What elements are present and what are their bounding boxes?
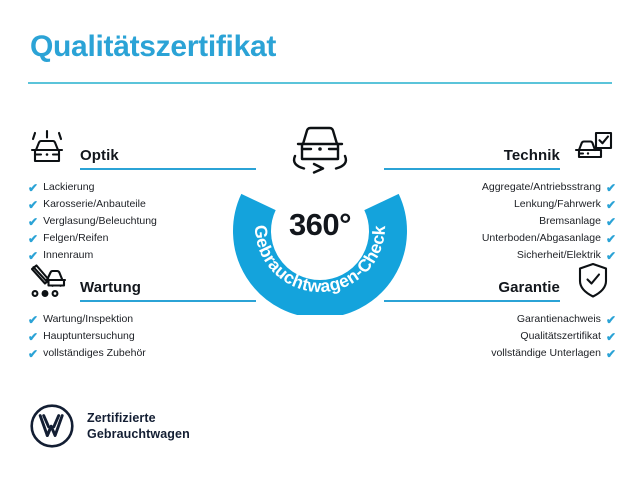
list-item-label: Aggregate/Antriebsstrang [482,179,601,196]
check-icon: ✔ [606,331,616,343]
check-icon: ✔ [606,348,616,360]
check-icon: ✔ [28,314,38,326]
list-item-label: Bremsanlage [539,213,601,230]
list-item-label: Felgen/Reifen [43,230,108,247]
list-item-label: Garantienachweis [517,311,601,328]
check-icon: ✔ [28,199,38,211]
list-item: ✔ vollständige Unterlagen [384,345,616,362]
check-icon: ✔ [606,182,616,194]
car-shine-icon [24,128,70,170]
list-item: ✔ vollständiges Zubehör [24,345,256,362]
section-header-optik: Optik [24,126,256,170]
list-item-label: Hauptuntersuchung [43,328,135,345]
list-item-label: Lenkung/Fahrwerk [514,196,601,213]
vw-certified-text: Zertifizierte Gebrauchtwagen [87,410,190,442]
list-item-label: Lackierung [43,179,94,196]
list-item-label: Wartung/Inspektion [43,311,133,328]
badge-center-label: 360° [228,207,412,243]
vw-certified-footer: Zertifizierte Gebrauchtwagen [30,404,190,448]
check-icon: ✔ [28,233,38,245]
list-item: ✔ Felgen/Reifen [24,230,256,247]
section-optik: Optik ✔ Lackierung ✔ Karosserie/Anbautei… [24,126,256,264]
page-title: Qualitätszertifikat [30,30,276,64]
list-item: ✔ Verglasung/Beleuchtung [24,213,256,230]
check-icon: ✔ [606,216,616,228]
vw-text-line-2: Gebrauchtwagen [87,426,190,442]
list-item: ✔ Lackierung [24,179,256,196]
check-icon: ✔ [606,199,616,211]
list-item-label: Karosserie/Anbauteile [43,196,146,213]
car-rotation-icon [278,118,362,174]
list-item: ✔ Karosserie/Anbauteile [24,196,256,213]
list-item-label: vollständiges Zubehör [43,345,146,362]
vw-text-line-1: Zertifizierte [87,410,190,426]
section-wartung: Wartung ✔ Wartung/Inspektion ✔ Hauptunte… [24,258,256,362]
list-item-label: Unterboden/Abgasanlage [482,230,601,247]
car-checkbox-icon [570,128,616,170]
badge-360-gebrauchtwagen-check: Gebrauchtwagen-Check 360° [228,155,412,315]
list-item: ✔ Wartung/Inspektion [24,311,256,328]
list-item-label: Verglasung/Beleuchtung [43,213,157,230]
list-item: ✔ Garantienachweis [384,311,616,328]
list-item-label: Qualitätszertifikat [520,328,601,345]
section-header-technik: Technik [384,126,616,170]
shield-check-icon [570,260,616,302]
check-icon: ✔ [28,348,38,360]
list-item-label: vollständige Unterlagen [491,345,601,362]
checklist-optik: ✔ Lackierung ✔ Karosserie/Anbauteile ✔ V… [24,179,256,264]
list-item: ✔ Bremsanlage [384,213,616,230]
car-wrench-icon [24,260,70,302]
check-icon: ✔ [28,331,38,343]
check-icon: ✔ [606,233,616,245]
list-item: ✔ Unterboden/Abgasanlage [384,230,616,247]
vw-logo-icon [30,404,74,448]
title-divider [28,82,612,84]
checklist-garantie: ✔ Garantienachweis ✔ Qualitätszertifikat… [384,311,616,362]
list-item: ✔ Qualitätszertifikat [384,328,616,345]
check-icon: ✔ [28,216,38,228]
checklist-wartung: ✔ Wartung/Inspektion ✔ Hauptuntersuchung… [24,311,256,362]
section-technik: Technik ✔ Aggregate/Antriebsstrang ✔ Len… [384,126,616,264]
check-icon: ✔ [28,182,38,194]
list-item: ✔ Lenkung/Fahrwerk [384,196,616,213]
check-icon: ✔ [606,314,616,326]
section-header-garantie: Garantie [384,258,616,302]
section-header-wartung: Wartung [24,258,256,302]
list-item: ✔ Hauptuntersuchung [24,328,256,345]
checklist-technik: ✔ Aggregate/Antriebsstrang ✔ Lenkung/Fah… [384,179,616,264]
section-garantie: Garantie ✔ Garantienachweis ✔ Qualitätsz… [384,258,616,362]
certificate-page: Qualitätszertifikat [0,0,640,480]
list-item: ✔ Aggregate/Antriebsstrang [384,179,616,196]
